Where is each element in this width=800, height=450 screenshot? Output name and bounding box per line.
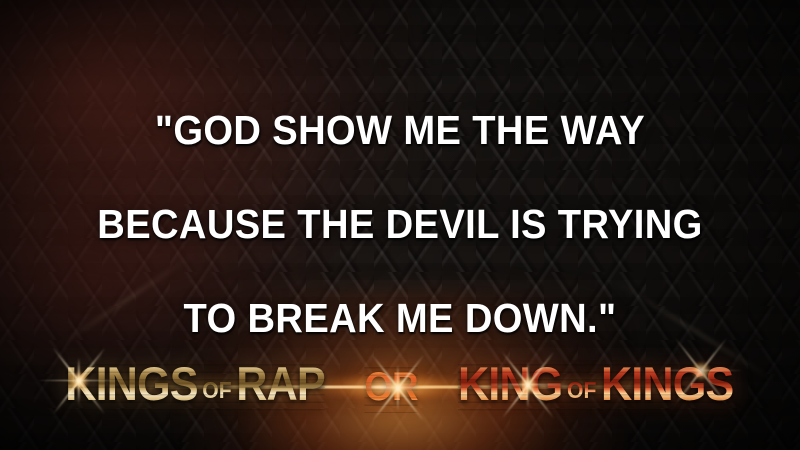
logo-king-of-kings: KINGofKINGS bbox=[458, 358, 733, 416]
logo-word-kings2: KINGS bbox=[601, 357, 733, 410]
series-title-logo: KINGSofRAP OR KINGofKINGS bbox=[0, 356, 800, 418]
quote-text: "GOD SHOW ME THE WAY BECAUSE THE DEVIL I… bbox=[28, 60, 772, 389]
logo-kings-of-rap: KINGSofRAP bbox=[66, 358, 325, 416]
logo-word-kings: KINGS bbox=[66, 357, 198, 410]
light-streak-core bbox=[327, 374, 457, 400]
quote-line-1: "GOD SHOW ME THE WAY bbox=[28, 107, 772, 154]
logo-word-rap: RAP bbox=[237, 357, 326, 410]
quote-line-2: BECAUSE THE DEVIL IS TRYING bbox=[28, 201, 772, 248]
logo-connector-of-left: of bbox=[198, 377, 237, 403]
slide-canvas: "GOD SHOW ME THE WAY BECAUSE THE DEVIL I… bbox=[0, 0, 800, 450]
logo-word-king: KING bbox=[458, 357, 562, 410]
quote-line-3: TO BREAK ME DOWN." bbox=[28, 295, 772, 342]
logo-connector-of-right: of bbox=[563, 377, 602, 403]
